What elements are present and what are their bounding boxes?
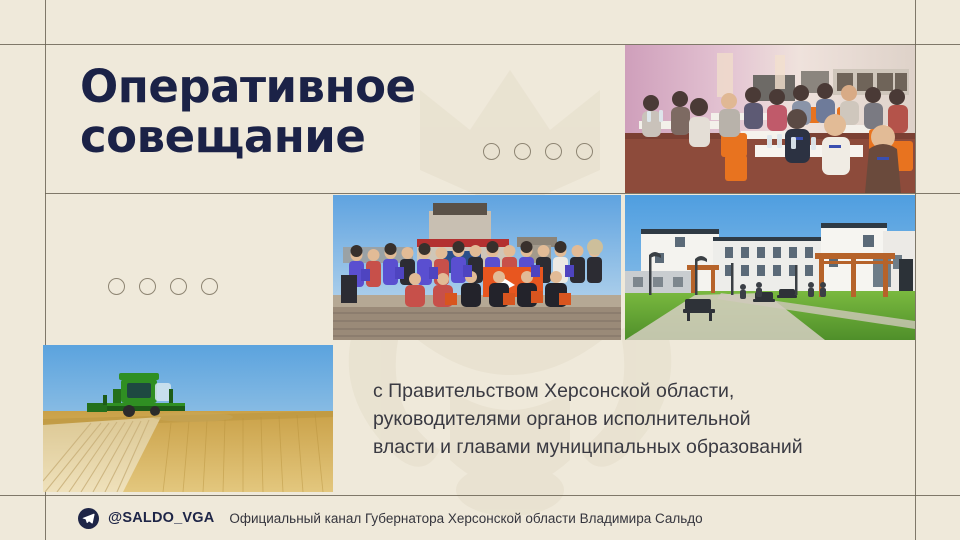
slide-canvas: Оперативное совещание xyxy=(0,0,960,540)
photo-new-campus xyxy=(625,195,915,340)
subtitle-panel: с Правительством Херсонской области, рук… xyxy=(345,345,915,492)
footer-tagline: Официальный канал Губернатора Херсонской… xyxy=(229,511,702,526)
telegram-icon[interactable] xyxy=(78,508,99,529)
photo-meeting-hall xyxy=(625,45,915,193)
decorative-dot xyxy=(514,143,531,160)
photo-youth-group xyxy=(333,195,621,340)
subtitle-line-1: с Правительством Херсонской области, xyxy=(373,377,803,405)
subtitle-line-2: руководителями органов исполнительной xyxy=(373,405,803,433)
decorative-dot xyxy=(201,278,218,295)
grid-rule-vertical-right xyxy=(915,0,916,540)
title-block: Оперативное совещание xyxy=(80,62,550,162)
decorative-dot xyxy=(139,278,156,295)
decorative-dots-title xyxy=(483,143,593,160)
subtitle-line-3: власти и главами муниципальных образован… xyxy=(373,433,803,461)
page-title: Оперативное совещание xyxy=(80,62,550,162)
footer-bar: @SALDO_VGA Официальный канал Губернатора… xyxy=(0,496,960,540)
decorative-dot xyxy=(108,278,125,295)
decorative-dot xyxy=(170,278,187,295)
decorative-dot xyxy=(483,143,500,160)
page-title-line-2: совещание xyxy=(80,112,550,162)
decorative-dot xyxy=(545,143,562,160)
subtitle-text: с Правительством Херсонской области, рук… xyxy=(373,377,803,461)
decorative-dot xyxy=(576,143,593,160)
decorative-dots-left xyxy=(108,278,218,295)
grid-rule-horizontal-mid xyxy=(45,193,960,194)
telegram-handle[interactable]: @SALDO_VGA xyxy=(108,510,214,526)
page-title-line-1: Оперативное xyxy=(80,62,550,112)
photo-wheat-harvest xyxy=(43,345,333,492)
